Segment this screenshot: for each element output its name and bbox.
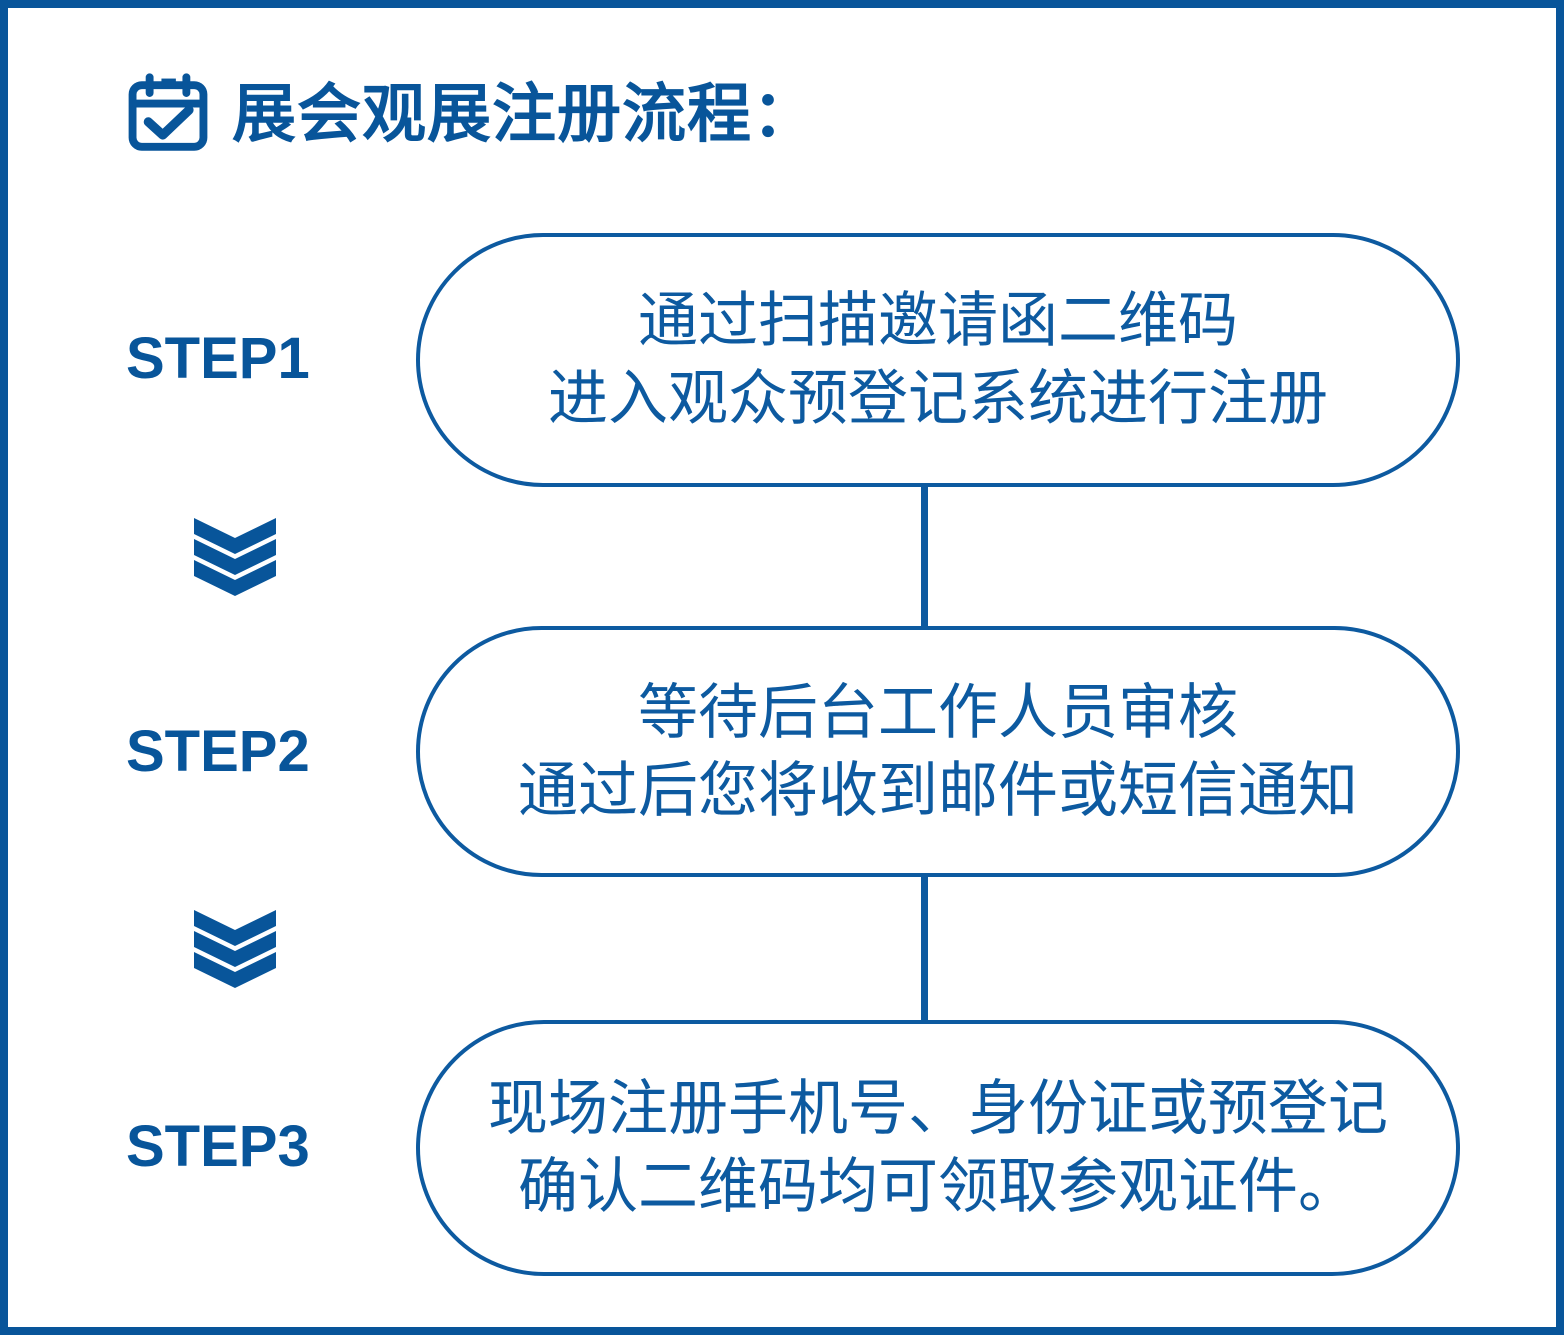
step-2-line-2: 通过后您将收到邮件或短信通知 bbox=[518, 752, 1358, 830]
step-2-line-1: 等待后台工作人员审核 bbox=[638, 674, 1238, 752]
step-label-3: STEP3 bbox=[126, 1118, 366, 1176]
connector-line-2-3 bbox=[921, 876, 928, 1022]
step-label-2: STEP2 bbox=[126, 723, 366, 781]
page-title: 展会观展注册流程： bbox=[232, 82, 817, 146]
step-box-2: 等待后台工作人员审核 通过后您将收到邮件或短信通知 bbox=[416, 626, 1460, 877]
connector-line-1-2 bbox=[921, 486, 928, 628]
triple-chevron-down-icon bbox=[194, 910, 276, 988]
step-box-3: 现场注册手机号、身份证或预登记 确认二维码均可领取参观证件。 bbox=[416, 1020, 1460, 1276]
step-label-1: STEP1 bbox=[126, 330, 366, 388]
step-1-line-1: 通过扫描邀请函二维码 bbox=[638, 282, 1238, 360]
registration-flow-page: 展会观展注册流程： STEP1 通过扫描邀请函二维码 进入观众预登记系统进行注册… bbox=[0, 0, 1564, 1335]
calendar-check-icon bbox=[126, 72, 210, 156]
step-1-line-2: 进入观众预登记系统进行注册 bbox=[548, 360, 1328, 438]
page-header: 展会观展注册流程： bbox=[126, 66, 817, 162]
triple-chevron-down-icon bbox=[194, 518, 276, 596]
step-3-line-1: 现场注册手机号、身份证或预登记 bbox=[488, 1070, 1388, 1148]
step-box-1: 通过扫描邀请函二维码 进入观众预登记系统进行注册 bbox=[416, 233, 1460, 487]
step-3-line-2: 确认二维码均可领取参观证件。 bbox=[518, 1148, 1358, 1226]
